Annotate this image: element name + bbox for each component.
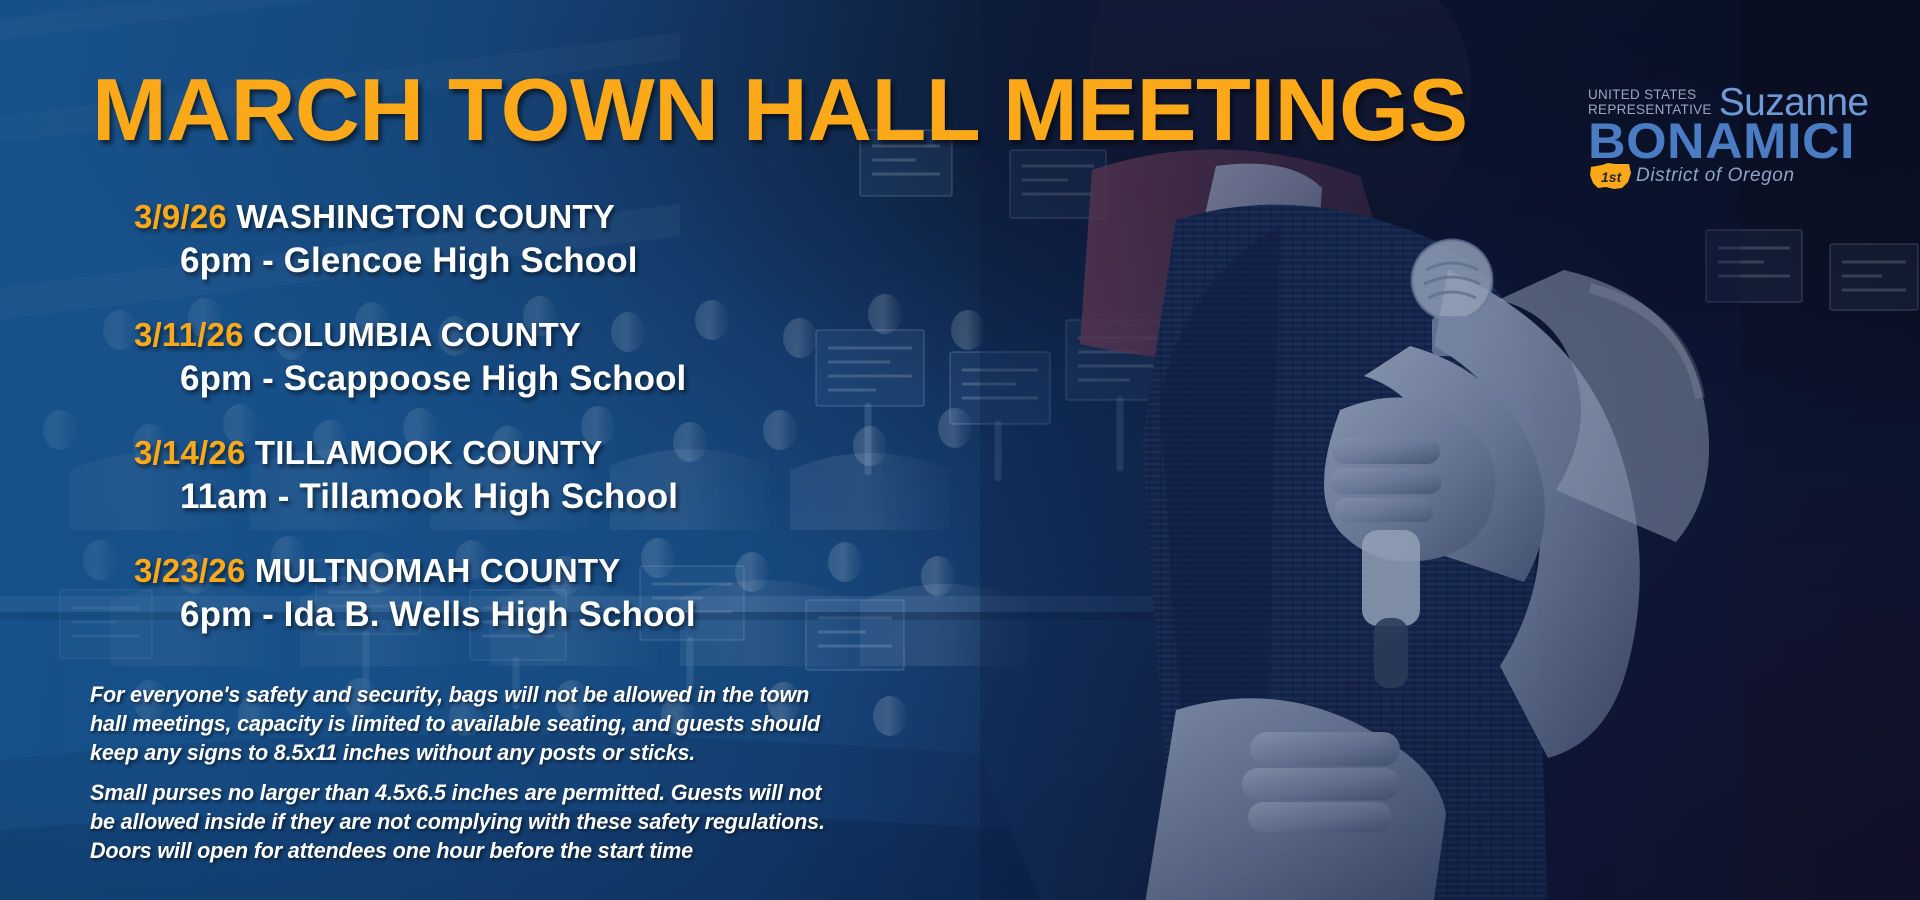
meeting-county: COLUMBIA COUNTY — [253, 316, 581, 353]
meeting-date: 3/14/26 — [134, 434, 246, 471]
oregon-state-icon: 1st — [1588, 161, 1634, 191]
bonamici-logo: UNITED STATES REPRESENTATIVE Suzanne BON… — [1588, 84, 1856, 194]
logo-last-name: BONAMICI — [1588, 118, 1867, 164]
poster-content: MARCH TOWN HALL MEETINGS UNITED STATES R… — [0, 0, 1920, 900]
meeting-heading: 3/14/26 TILLAMOOK COUNTY — [0, 432, 900, 474]
safety-note-paragraph: For everyone's safety and security, bags… — [90, 680, 848, 767]
district-number: 1st — [1601, 169, 1621, 185]
page-title: MARCH TOWN HALL MEETINGS — [92, 66, 1468, 154]
meeting-details: 6pm - Scappoose High School — [0, 356, 900, 402]
town-hall-announcement-poster: MARCH TOWN HALL MEETINGS UNITED STATES R… — [0, 0, 1920, 900]
meeting-county: TILLAMOOK COUNTY — [255, 434, 603, 471]
meetings-list: 3/9/26 WASHINGTON COUNTY 6pm - Glencoe H… — [0, 196, 900, 638]
meeting-item: 3/9/26 WASHINGTON COUNTY 6pm - Glencoe H… — [0, 196, 900, 284]
logo-office-line-1: UNITED STATES — [1588, 88, 1712, 103]
meeting-details: 6pm - Glencoe High School — [0, 238, 900, 284]
meeting-county: MULTNOMAH COUNTY — [255, 552, 621, 589]
meeting-heading: 3/9/26 WASHINGTON COUNTY — [0, 196, 900, 238]
meeting-item: 3/11/26 COLUMBIA COUNTY 6pm - Scappoose … — [0, 314, 900, 402]
meeting-details: 11am - Tillamook High School — [0, 474, 900, 520]
meeting-item: 3/23/26 MULTNOMAH COUNTY 6pm - Ida B. We… — [0, 550, 900, 638]
meeting-date: 3/9/26 — [134, 198, 227, 235]
meeting-date: 3/23/26 — [134, 552, 246, 589]
meeting-date: 3/11/26 — [134, 316, 244, 353]
safety-notes: For everyone's safety and security, bags… — [90, 680, 880, 865]
meeting-item: 3/14/26 TILLAMOOK COUNTY 11am - Tillamoo… — [0, 432, 900, 520]
meeting-details: 6pm - Ida B. Wells High School — [0, 592, 900, 638]
safety-note-paragraph: Small purses no larger than 4.5x6.5 inch… — [90, 778, 848, 865]
meeting-heading: 3/11/26 COLUMBIA COUNTY — [0, 314, 900, 356]
meeting-county: WASHINGTON COUNTY — [236, 198, 615, 235]
meeting-heading: 3/23/26 MULTNOMAH COUNTY — [0, 550, 900, 592]
